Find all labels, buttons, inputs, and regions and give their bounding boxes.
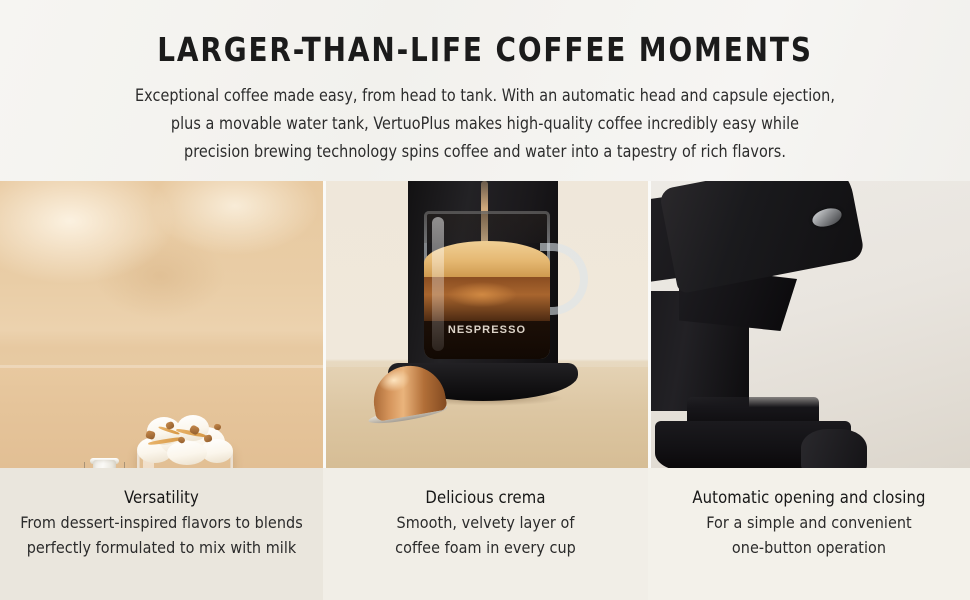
hand-pressing-button-icon xyxy=(839,199,970,289)
caption-versatility: Versatility From dessert-inspired flavor… xyxy=(0,468,323,600)
header-description-line-1: Exceptional coffee made easy, from head … xyxy=(112,82,859,110)
header-description-line-2: plus a movable water tank, VertuoPlus ma… xyxy=(112,110,859,138)
panel1-surface-edge xyxy=(0,365,323,368)
water-tank-icon xyxy=(801,429,867,468)
coffee-capsule-icon xyxy=(372,366,444,426)
caption-line-1: From dessert-inspired flavors to blends xyxy=(0,510,323,535)
feature-image-automatic-opening xyxy=(651,181,970,468)
caption-description: For a simple and convenient one-button o… xyxy=(648,510,970,560)
caption-line-1: For a simple and convenient xyxy=(648,510,970,535)
caption-line-2: one-button operation xyxy=(648,535,970,560)
caption-title: Delicious crema xyxy=(323,486,648,510)
caption-line-2: perfectly formulated to mix with milk xyxy=(0,535,323,560)
caption-crema: Delicious crema Smooth, velvety layer of… xyxy=(323,468,648,600)
page-title: LARGER-THAN-LIFE COFFEE MOMENTS xyxy=(29,30,941,69)
header-section: LARGER-THAN-LIFE COFFEE MOMENTS Exceptio… xyxy=(0,0,970,181)
caption-description: From dessert-inspired flavors to blends … xyxy=(0,510,323,560)
header-description-line-3: precision brewing technology spins coffe… xyxy=(112,138,859,166)
feature-image-strip: VERTUO N BLANCO FORTE NESPRESSO xyxy=(0,181,970,468)
machine-head-icon xyxy=(659,181,866,294)
feature-image-crema: NESPRESSO xyxy=(326,181,648,468)
caption-line-1: Smooth, velvety layer of xyxy=(323,510,648,535)
caption-title: Versatility xyxy=(0,486,323,510)
caption-title: Automatic opening and closing xyxy=(648,486,970,510)
product-feature-banner: LARGER-THAN-LIFE COFFEE MOMENTS Exceptio… xyxy=(0,0,970,600)
caption-row: Versatility From dessert-inspired flavor… xyxy=(0,468,970,600)
caption-description: Smooth, velvety layer of coffee foam in … xyxy=(323,510,648,560)
glass-mug-icon xyxy=(424,211,550,359)
feature-image-versatility: VERTUO N BLANCO FORTE NESPRESSO xyxy=(0,181,323,468)
caption-automatic-opening: Automatic opening and closing For a simp… xyxy=(648,468,970,600)
bottle-neck-icon xyxy=(93,460,116,468)
mug-brand-label: NESPRESSO xyxy=(424,324,550,336)
header-description: Exceptional coffee made easy, from head … xyxy=(112,82,859,166)
caption-line-2: coffee foam in every cup xyxy=(323,535,648,560)
